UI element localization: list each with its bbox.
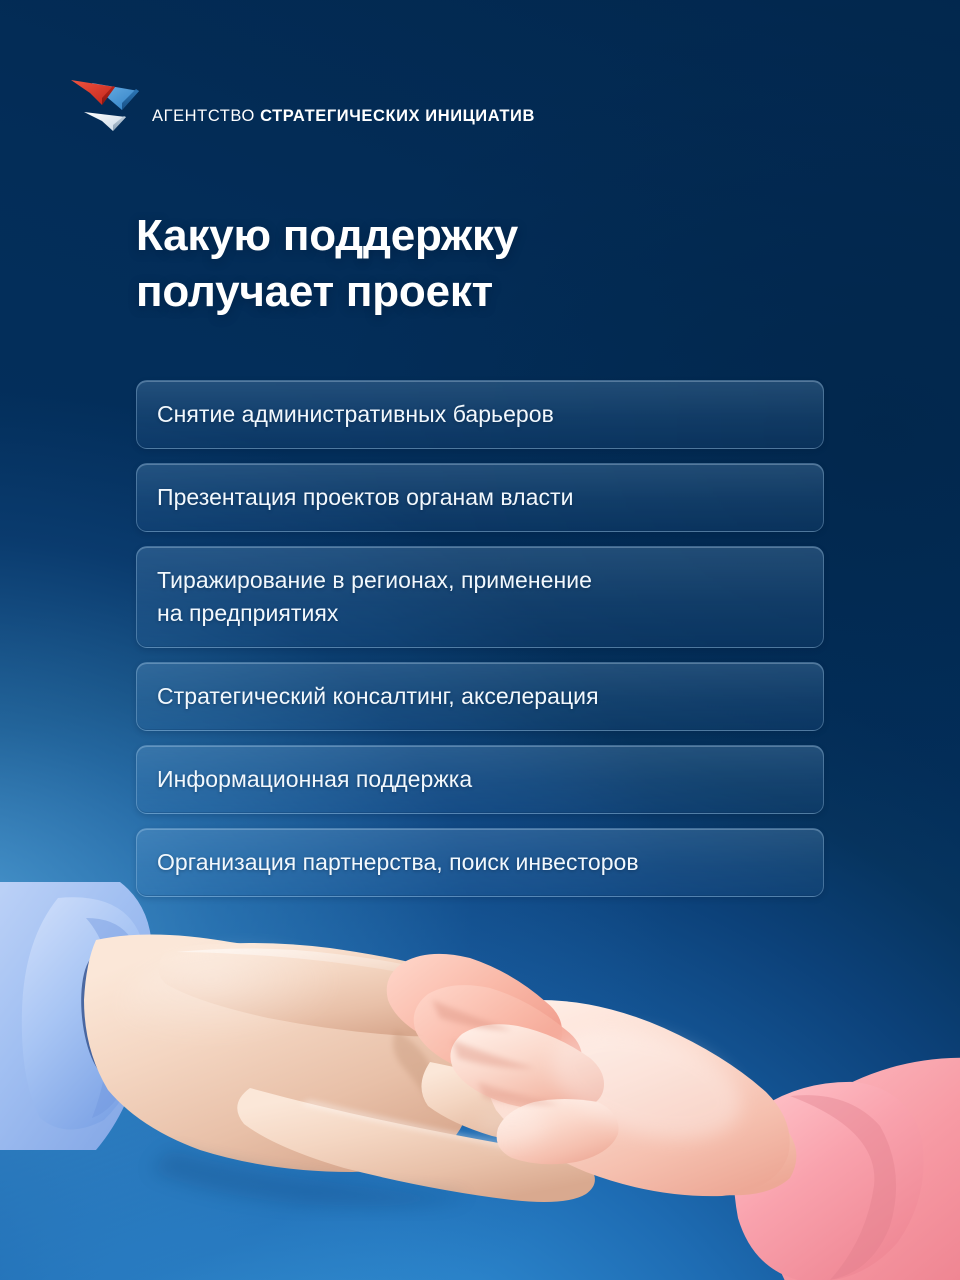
slide-root: АГЕНТСТВО СТРАТЕГИЧЕСКИХ ИНИЦИАТИВ Какую… bbox=[0, 0, 960, 1280]
asi-triple-chevron-logo-icon bbox=[68, 72, 142, 134]
brand-logo-text: АГЕНТСТВО СТРАТЕГИЧЕСКИХ ИНИЦИАТИВ bbox=[152, 82, 535, 125]
list-item[interactable]: Организация партнерства, поиск инвесторо… bbox=[136, 828, 824, 897]
list-item[interactable]: Тиражирование в регионах, применение на … bbox=[136, 546, 824, 647]
list-item[interactable]: Информационная поддержка bbox=[136, 745, 824, 814]
list-item[interactable]: Снятие административных барьеров bbox=[136, 380, 824, 449]
list-item[interactable]: Стратегический консалтинг, акселерация bbox=[136, 662, 824, 731]
page-title: Какую поддержку получает проект bbox=[136, 208, 518, 321]
brand-name-bold: СТРАТЕГИЧЕСКИХ ИНИЦИАТИВ bbox=[260, 107, 535, 125]
list-item-label: Тиражирование в регионах, применение на … bbox=[157, 564, 803, 628]
list-item-label: Снятие административных барьеров bbox=[157, 398, 803, 430]
list-item-label: Информационная поддержка bbox=[157, 763, 803, 795]
list-item-label: Стратегический консалтинг, акселерация bbox=[157, 680, 803, 712]
list-item-label: Презентация проектов органам власти bbox=[157, 481, 803, 513]
brand-logo[interactable]: АГЕНТСТВО СТРАТЕГИЧЕСКИХ ИНИЦИАТИВ bbox=[68, 72, 535, 134]
list-item[interactable]: Презентация проектов органам власти bbox=[136, 463, 824, 532]
list-item-label: Организация партнерства, поиск инвесторо… bbox=[157, 846, 803, 878]
brand-name-light: АГЕНТСТВО bbox=[152, 107, 255, 125]
support-list: Снятие административных барьеров Презент… bbox=[136, 380, 824, 897]
